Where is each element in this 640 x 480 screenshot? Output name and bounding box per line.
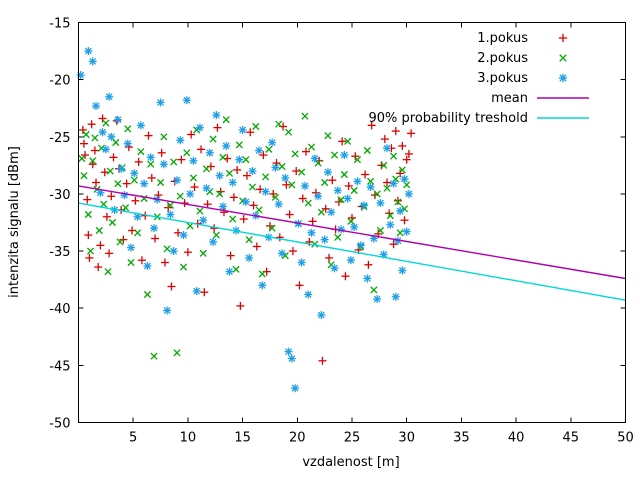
series-plus xyxy=(79,115,415,365)
data-point xyxy=(227,252,235,260)
data-point xyxy=(177,193,183,199)
data-point xyxy=(222,142,230,150)
legend-label-2: 2.pokus xyxy=(477,51,528,66)
data-point xyxy=(209,238,217,246)
data-point xyxy=(157,99,165,107)
data-point xyxy=(79,155,85,161)
data-point xyxy=(246,237,252,243)
data-point xyxy=(285,129,291,135)
data-point xyxy=(137,121,145,129)
data-point xyxy=(143,262,151,270)
data-point xyxy=(309,217,317,225)
x-tick-label: 45 xyxy=(563,431,580,446)
fit-lines-layer xyxy=(79,186,626,300)
data-point xyxy=(401,175,409,183)
data-point xyxy=(258,281,266,289)
data-point xyxy=(331,152,337,158)
data-point xyxy=(340,151,348,159)
data-point xyxy=(334,187,342,195)
data-point xyxy=(77,71,85,79)
data-point xyxy=(92,179,100,187)
data-point xyxy=(189,157,197,165)
data-point xyxy=(213,232,219,238)
data-point xyxy=(199,216,207,224)
data-point xyxy=(390,180,398,188)
y-tick-label: -45 xyxy=(49,359,70,374)
data-point xyxy=(317,311,325,319)
data-point xyxy=(360,201,368,209)
data-point xyxy=(173,176,181,184)
data-point xyxy=(144,291,150,297)
data-point xyxy=(115,181,121,187)
y-tick-label: -15 xyxy=(49,17,70,32)
data-point xyxy=(107,168,113,174)
data-point xyxy=(85,254,93,262)
data-point xyxy=(262,188,270,196)
data-point xyxy=(83,196,91,204)
data-point xyxy=(301,182,309,190)
data-point xyxy=(110,153,118,161)
x-tick-label: 30 xyxy=(398,431,415,446)
data-point xyxy=(230,193,238,201)
data-point xyxy=(390,153,396,159)
data-point xyxy=(151,235,159,243)
data-point xyxy=(89,57,97,65)
data-point xyxy=(371,287,377,293)
data-point xyxy=(203,166,209,172)
data-point xyxy=(281,174,289,182)
data-point xyxy=(351,187,357,193)
y-tick-label: -50 xyxy=(49,417,70,432)
data-point xyxy=(140,180,148,188)
data-point xyxy=(405,190,413,198)
data-point xyxy=(197,145,205,153)
data-point xyxy=(105,93,113,101)
data-point xyxy=(364,261,372,269)
data-point xyxy=(559,34,567,42)
data-point xyxy=(322,179,328,185)
x-tick-label: 40 xyxy=(508,431,525,446)
data-point xyxy=(103,120,109,126)
y-axis-title: intenzita signalu [dBm] xyxy=(7,146,22,298)
data-point xyxy=(177,156,185,164)
data-point xyxy=(113,139,119,145)
data-point xyxy=(353,177,361,185)
data-point xyxy=(335,234,341,240)
data-point xyxy=(248,167,256,175)
data-point xyxy=(292,151,298,157)
data-point xyxy=(223,117,229,123)
data-point xyxy=(266,146,272,152)
data-point xyxy=(242,198,250,206)
data-point xyxy=(285,348,293,356)
x-tick-label: 10 xyxy=(180,431,197,446)
data-point xyxy=(123,180,131,188)
data-point xyxy=(233,266,239,272)
data-point xyxy=(292,167,300,175)
data-point xyxy=(167,283,175,291)
data-point xyxy=(386,221,394,229)
data-point xyxy=(341,171,347,177)
data-point xyxy=(157,179,163,185)
data-point xyxy=(83,131,89,137)
data-point xyxy=(357,241,365,249)
data-point xyxy=(305,200,311,206)
data-point xyxy=(381,135,389,143)
data-point xyxy=(128,259,134,265)
data-point xyxy=(230,216,236,222)
data-point xyxy=(328,176,336,184)
legend-label-1: 1.pokus xyxy=(477,31,528,46)
data-point xyxy=(327,208,335,216)
data-point xyxy=(92,135,98,141)
data-point xyxy=(202,184,210,192)
data-point xyxy=(213,124,221,132)
data-point xyxy=(249,184,255,190)
data-point xyxy=(276,233,284,241)
data-point xyxy=(107,133,115,141)
data-point xyxy=(183,96,191,104)
x-tick-label: 25 xyxy=(344,431,361,446)
data-point xyxy=(288,355,296,363)
data-point xyxy=(363,275,371,283)
data-point xyxy=(398,142,406,150)
data-point xyxy=(210,136,216,142)
data-point xyxy=(80,140,88,148)
data-point xyxy=(200,250,206,256)
data-point xyxy=(107,192,115,200)
data-point xyxy=(176,136,184,144)
data-point xyxy=(91,147,99,155)
data-point xyxy=(245,254,253,262)
data-point xyxy=(197,208,203,214)
y-tick-label: -25 xyxy=(49,131,70,146)
data-point xyxy=(394,197,402,205)
data-point xyxy=(291,384,299,392)
data-point xyxy=(135,158,143,166)
data-point xyxy=(184,248,192,256)
data-point xyxy=(88,120,96,128)
y-tick-label: -30 xyxy=(49,188,70,203)
data-point xyxy=(262,174,268,180)
data-point xyxy=(117,165,125,173)
data-point xyxy=(225,268,233,276)
x-tick-label: 50 xyxy=(617,431,634,446)
data-point xyxy=(138,149,144,155)
data-point xyxy=(383,144,391,152)
data-point xyxy=(151,353,157,359)
y-tick-label: -40 xyxy=(49,302,70,317)
data-point xyxy=(131,177,137,183)
legend-label-3: 3.pokus xyxy=(477,71,528,86)
data-point xyxy=(325,133,331,139)
data-point xyxy=(236,142,242,148)
scatter-plot: 5101520253035404550 -15-20-25-30-35-40-4… xyxy=(0,0,640,480)
data-point xyxy=(314,192,322,200)
data-point xyxy=(170,247,178,255)
data-point xyxy=(180,264,186,270)
data-point xyxy=(229,179,237,187)
data-point xyxy=(105,269,111,275)
legend: 1.pokus2.pokus3.pokusmean90% probability… xyxy=(368,31,589,126)
data-point xyxy=(373,295,381,303)
data-point xyxy=(84,231,92,239)
data-point xyxy=(120,191,128,199)
data-point xyxy=(302,113,308,119)
data-point xyxy=(171,159,177,165)
data-point xyxy=(559,74,567,82)
data-point xyxy=(186,190,194,198)
data-point xyxy=(235,156,243,164)
data-point xyxy=(105,249,113,257)
data-point xyxy=(96,227,102,233)
data-point xyxy=(403,228,411,236)
data-point xyxy=(279,163,285,169)
data-point xyxy=(289,247,297,255)
data-point xyxy=(367,183,375,191)
data-point xyxy=(239,126,247,134)
data-point xyxy=(94,263,102,271)
chart-root: 5101520253035404550 -15-20-25-30-35-40-4… xyxy=(0,0,640,480)
data-point xyxy=(101,201,107,207)
data-point xyxy=(190,175,196,181)
data-point xyxy=(148,174,156,182)
data-point xyxy=(161,259,169,267)
data-point xyxy=(114,116,122,124)
data-point xyxy=(256,207,262,213)
data-point xyxy=(85,211,91,217)
data-point xyxy=(236,302,244,310)
data-point xyxy=(397,230,403,236)
data-point xyxy=(275,200,283,208)
data-point xyxy=(299,169,305,175)
data-point xyxy=(276,121,282,127)
fit-line-mean xyxy=(79,186,626,279)
data-point xyxy=(206,149,214,157)
y-tick-label: -20 xyxy=(49,74,70,89)
data-point xyxy=(160,160,168,168)
y-axis-ticks: -15-20-25-30-35-40-45-50 xyxy=(49,17,625,432)
data-point xyxy=(124,140,132,148)
data-point xyxy=(125,126,131,132)
data-point xyxy=(79,126,87,134)
data-point xyxy=(396,207,404,215)
data-point xyxy=(81,173,87,179)
data-point xyxy=(102,145,110,153)
data-point xyxy=(376,199,384,207)
data-point xyxy=(308,144,314,150)
data-point xyxy=(150,224,158,232)
data-point xyxy=(407,129,415,137)
data-point xyxy=(99,115,107,123)
data-point xyxy=(84,47,92,55)
data-point xyxy=(145,132,153,140)
data-point xyxy=(560,55,567,62)
data-point xyxy=(344,195,352,203)
data-point xyxy=(350,223,358,231)
data-point xyxy=(161,134,167,140)
data-point xyxy=(196,124,204,132)
data-point xyxy=(268,139,276,147)
x-tick-label: 35 xyxy=(453,431,470,446)
data-point xyxy=(200,288,208,296)
data-point xyxy=(164,246,170,252)
data-point xyxy=(131,197,139,205)
data-point xyxy=(127,244,135,252)
data-point xyxy=(147,153,155,161)
data-point xyxy=(318,209,324,215)
data-point xyxy=(286,211,294,219)
data-point xyxy=(253,123,259,129)
data-point xyxy=(311,155,319,163)
legend-label-5: 90% probability treshold xyxy=(368,111,528,126)
legend-label-4: mean xyxy=(491,91,528,106)
data-point xyxy=(401,216,409,224)
data-point xyxy=(392,127,400,135)
data-point xyxy=(148,161,154,167)
data-point xyxy=(318,357,326,365)
data-point xyxy=(92,102,100,110)
data-point xyxy=(101,168,109,176)
data-point xyxy=(158,149,166,157)
data-point xyxy=(99,128,107,136)
data-point xyxy=(96,241,104,249)
data-points-layer xyxy=(77,47,415,392)
data-point xyxy=(255,147,263,155)
data-point xyxy=(233,166,241,174)
x-axis-title: vzdalenost [m] xyxy=(302,455,399,470)
data-point xyxy=(134,230,140,236)
data-point xyxy=(298,259,306,267)
data-point xyxy=(87,248,93,254)
data-point xyxy=(109,219,115,225)
data-point xyxy=(220,154,226,160)
data-point xyxy=(324,168,332,176)
x-tick-label: 15 xyxy=(234,431,251,446)
data-point xyxy=(240,215,248,223)
data-point xyxy=(341,272,349,280)
data-point xyxy=(330,264,338,272)
data-point xyxy=(304,291,312,299)
data-point xyxy=(193,287,201,295)
data-point xyxy=(308,229,316,237)
data-point xyxy=(325,254,333,262)
data-point xyxy=(321,236,329,244)
data-point xyxy=(190,183,198,191)
data-point xyxy=(364,147,370,153)
data-point xyxy=(347,256,355,264)
data-point xyxy=(392,293,400,301)
data-point xyxy=(212,111,220,119)
data-point xyxy=(166,211,174,219)
data-point xyxy=(278,249,286,257)
y-tick-label: -35 xyxy=(49,245,70,260)
data-point xyxy=(295,281,303,289)
x-tick-label: 5 xyxy=(129,431,137,446)
data-point xyxy=(271,164,279,172)
data-point xyxy=(122,205,128,211)
data-point xyxy=(174,350,180,356)
data-point xyxy=(243,157,249,163)
data-point xyxy=(184,150,190,156)
data-point xyxy=(259,271,265,277)
data-point xyxy=(180,231,188,239)
data-point xyxy=(348,218,354,224)
data-point xyxy=(163,307,171,315)
data-point xyxy=(253,243,261,251)
x-tick-label: 20 xyxy=(289,431,306,446)
data-point xyxy=(216,172,224,180)
data-point xyxy=(226,170,232,176)
data-point xyxy=(130,169,138,177)
data-point xyxy=(98,145,104,151)
data-point xyxy=(361,171,369,179)
data-point xyxy=(398,267,406,275)
